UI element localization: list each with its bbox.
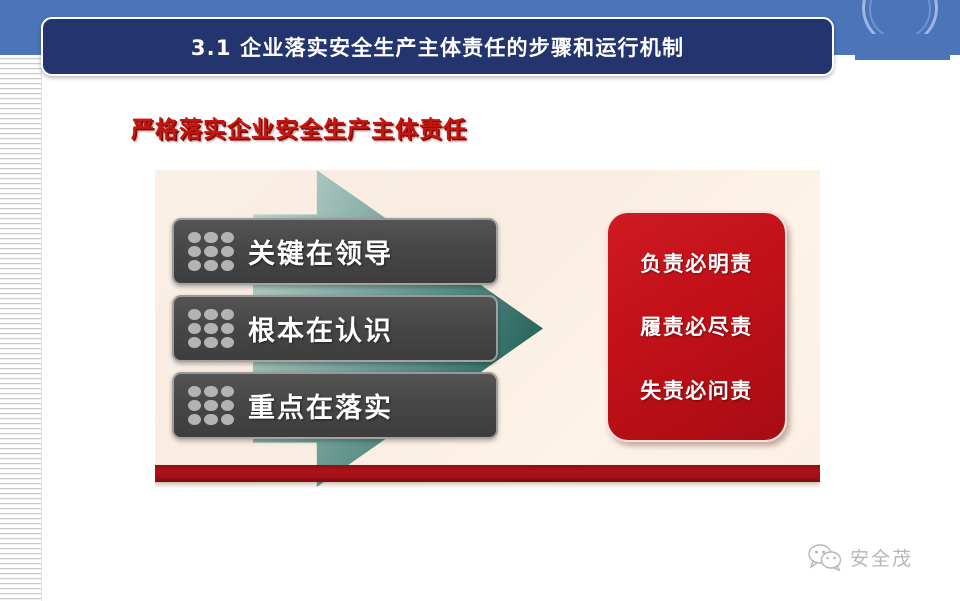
watermark-text: 安全茂	[850, 544, 913, 571]
step-bar-1-label: 关键在领导	[248, 232, 393, 271]
outcome-line-1: 负责必明责	[640, 248, 753, 278]
section-heading: 严格落实企业安全生产主体责任	[131, 110, 467, 144]
dot-grid-icon	[188, 386, 234, 426]
step-bar-2: 根本在认识	[172, 295, 498, 362]
left-margin-edge-line	[41, 55, 42, 601]
outcome-line-3: 失责必问责	[640, 375, 753, 405]
outcome-box: 负责必明责 履责必尽责 失责必问责	[606, 211, 787, 442]
step-bar-2-label: 根本在认识	[248, 309, 393, 348]
outcome-line-2: 履责必尽责	[640, 311, 753, 341]
step-bar-3-label: 重点在落实	[248, 386, 393, 425]
left-striped-margin	[0, 55, 42, 601]
slide-header-plate: 3.1 企业落实安全生产主体责任的步骤和运行机制	[41, 17, 834, 76]
arc-decoration-mask	[855, 34, 950, 60]
step-bar-3: 重点在落实	[172, 372, 498, 439]
page-title: 3.1 企业落实安全生产主体责任的步骤和运行机制	[191, 32, 684, 62]
diagram-base-bar	[155, 465, 820, 482]
step-bar-1: 关键在领导	[172, 218, 498, 285]
wechat-icon	[808, 543, 842, 571]
dot-grid-icon	[188, 232, 234, 272]
diagram-panel: 关键在领导 根本在认识 重点在落实 负责必明责 履责必尽责 失责必问责	[155, 170, 820, 487]
slide-canvas: 3.1 企业落实安全生产主体责任的步骤和运行机制 严格落实企业安全生产主体责任 …	[0, 0, 960, 601]
dot-grid-icon	[188, 309, 234, 349]
watermark: 安全茂	[808, 543, 913, 571]
